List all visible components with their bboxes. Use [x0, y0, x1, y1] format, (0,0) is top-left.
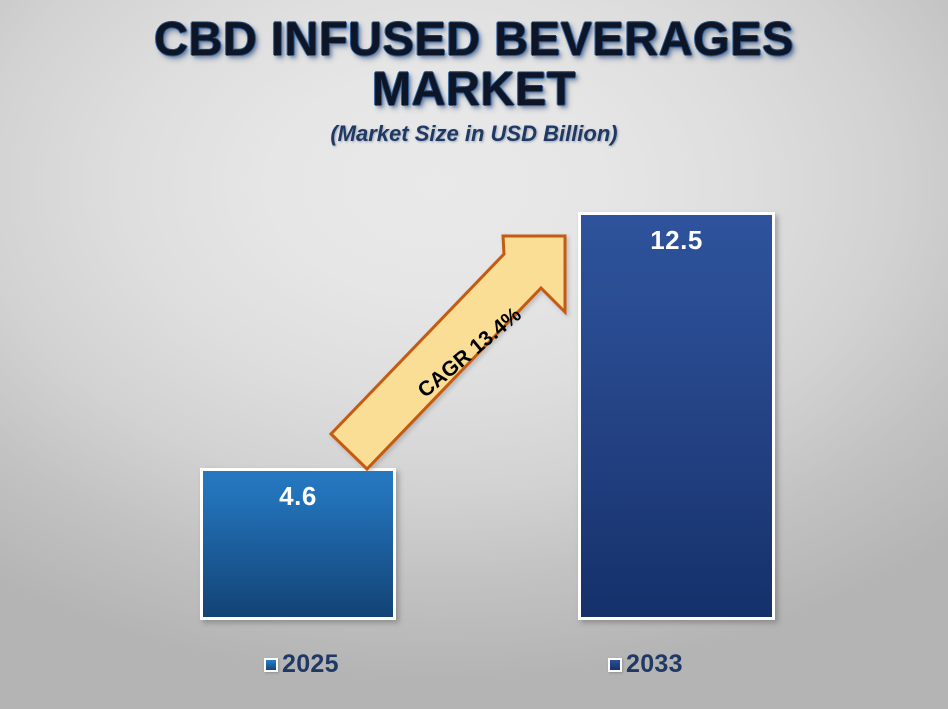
legend-item-2033[interactable]: 2033	[608, 650, 683, 679]
chart-canvas: CBD INFUSED BEVERAGES MARKET (Market Siz…	[0, 0, 948, 709]
bar-value-2025: 4.6	[203, 481, 393, 512]
legend-label-2033: 2033	[626, 650, 683, 679]
plot-area: 4.6 12.5 CAGR 13.4%	[0, 0, 948, 709]
legend-label-2025: 2025	[282, 650, 339, 679]
bar-value-2033: 12.5	[581, 225, 772, 256]
cagr-growth-arrow: CAGR 13.4%	[320, 225, 580, 480]
legend-square-icon	[264, 658, 278, 672]
bar-2033: 12.5	[578, 212, 775, 620]
legend-square-icon	[608, 658, 622, 672]
bar-2025: 4.6	[200, 468, 396, 620]
legend-item-2025[interactable]: 2025	[264, 650, 339, 679]
legend: 2025 2033	[0, 650, 948, 690]
